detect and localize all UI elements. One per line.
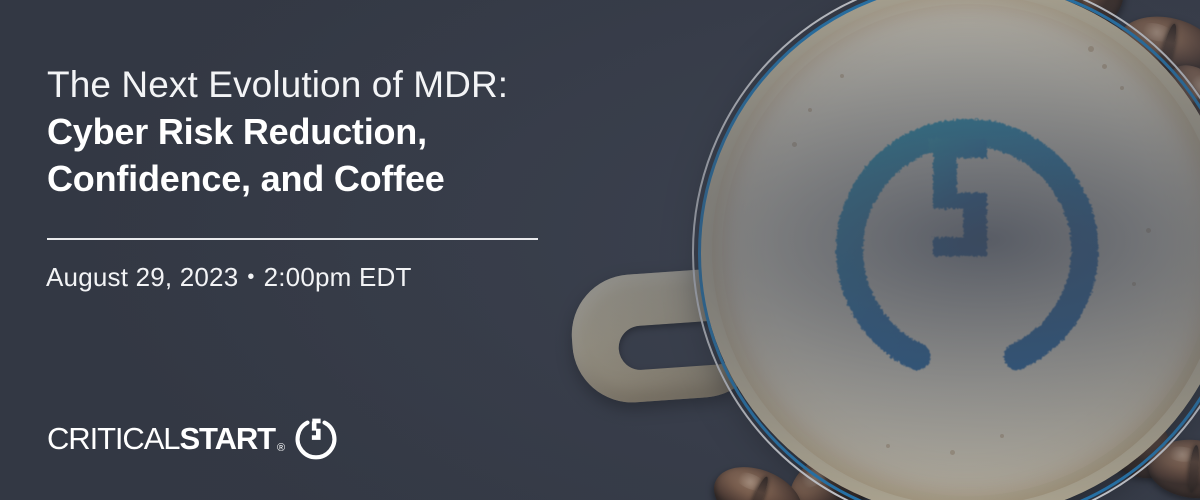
dateline-separator: • [238, 266, 263, 289]
event-date: August 29, 2023 [46, 262, 238, 292]
coffee-cup [700, 0, 1200, 500]
criticalstart-logo[interactable]: CRITICALSTART® [47, 414, 339, 462]
webinar-banner: The Next Evolution of MDR: Cyber Risk Re… [0, 0, 1200, 500]
title-divider [47, 238, 538, 240]
latte-art-power-s-icon [809, 91, 1127, 409]
event-time: 2:00pm EDT [264, 262, 412, 292]
power-button-s-icon [293, 415, 339, 461]
page-title: The Next Evolution of MDR: Cyber Risk Re… [47, 62, 567, 202]
headline-line-3: Confidence, and Coffee [47, 155, 567, 202]
headline-line-2: Cyber Risk Reduction, [47, 108, 567, 155]
logo-word-critical: CRITICAL [47, 421, 179, 456]
banner-content: The Next Evolution of MDR: Cyber Risk Re… [0, 0, 600, 500]
logo-wordmark: CRITICALSTART® [47, 423, 285, 454]
logo-word-start: START [179, 421, 275, 456]
registered-trademark-symbol: ® [277, 442, 285, 454]
headline-line-1: The Next Evolution of MDR: [47, 62, 567, 108]
event-dateline: August 29, 2023•2:00pm EDT [46, 262, 412, 293]
